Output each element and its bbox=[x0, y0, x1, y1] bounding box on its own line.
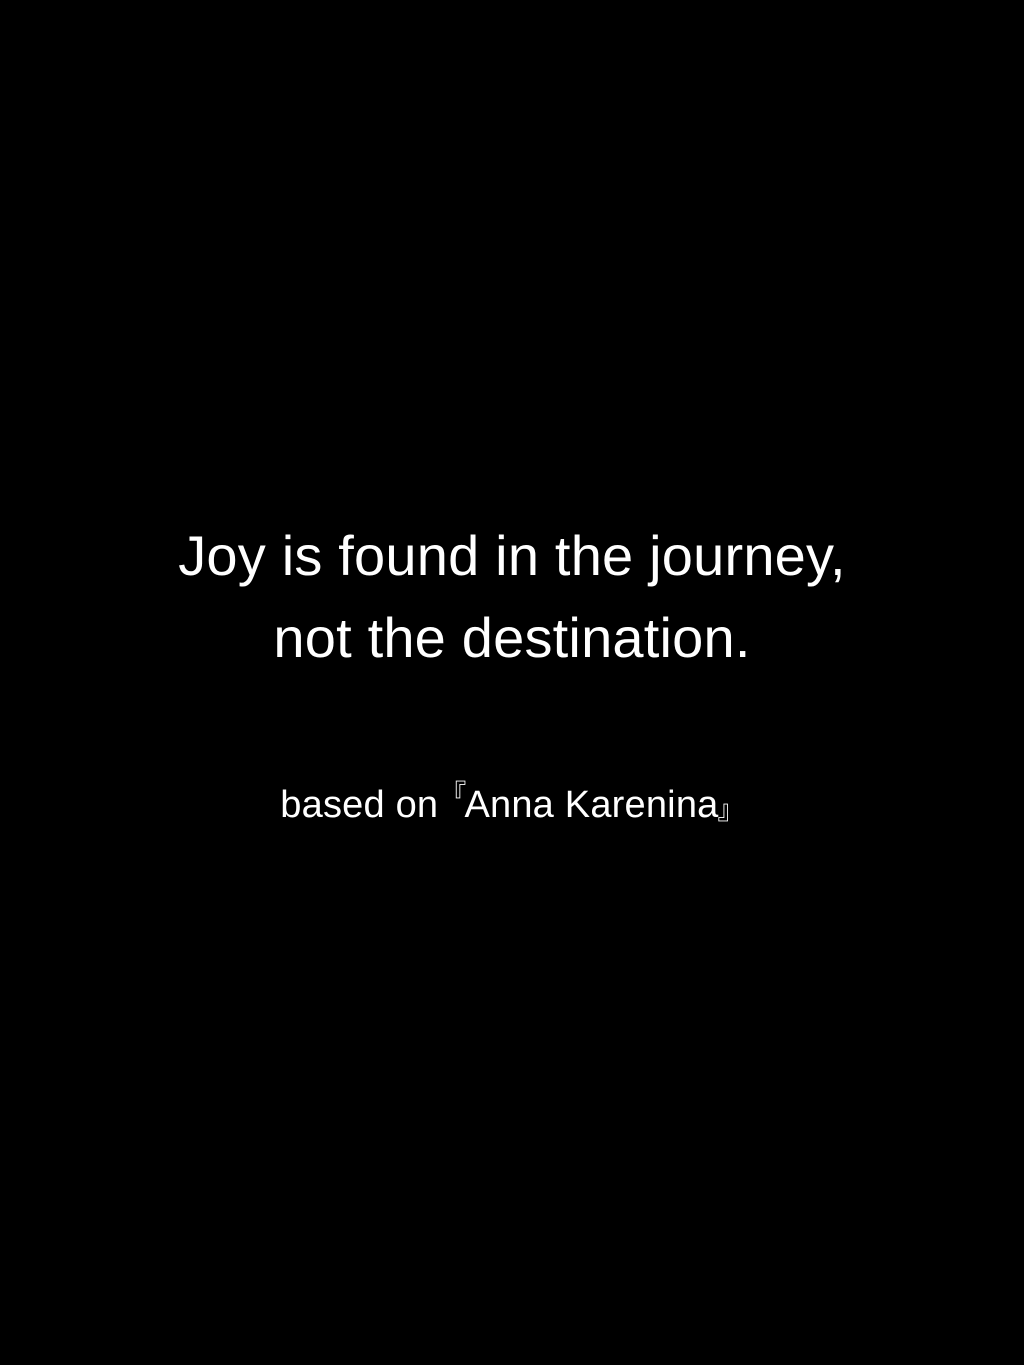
quote-text-block: Joy is found in the journey, not the des… bbox=[0, 515, 1024, 679]
attribution-line: based on『Anna Karenina』 bbox=[280, 778, 743, 832]
attribution-block: based on『Anna Karenina』 bbox=[0, 778, 1024, 832]
attribution-prefix: based on bbox=[280, 784, 438, 826]
quote-line-1: Joy is found in the journey, bbox=[0, 515, 1024, 597]
quote-card: Joy is found in the journey, not the des… bbox=[0, 0, 1024, 1365]
attribution-source-title: Anna Karenina bbox=[464, 784, 718, 826]
quote-line-2: not the destination. bbox=[0, 597, 1024, 679]
corner-bracket-open-icon: 『 bbox=[440, 782, 466, 808]
corner-bracket-close-icon: 』 bbox=[718, 798, 744, 824]
